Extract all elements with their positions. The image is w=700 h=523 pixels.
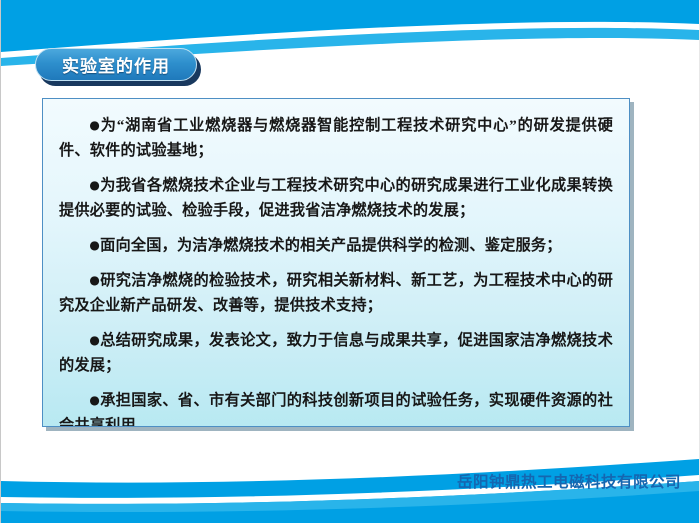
bullet-icon: ● [89, 273, 100, 287]
paragraph-text: 为我省各燃烧技术企业与工程技术研究中心的研究成果进行工业化成果转换提供必要的试验… [59, 177, 613, 219]
slide-canvas: 实验室的作用 ●为“湖南省工业燃烧器与燃烧器智能控制工程技术研究中心”的研发提供… [0, 0, 700, 523]
bullet-paragraph: ●面向全国，为洁净燃烧技术的相关产品提供科学的检测、鉴定服务； [59, 233, 613, 258]
paragraph-text: 总结研究成果，发表论文，致力于信息与成果共享，促进国家洁净燃烧技术的发展； [59, 332, 613, 374]
paragraph-text: 为“湖南省工业燃烧器与燃烧器智能控制工程技术研究中心”的研发提供硬件、软件的试验… [59, 117, 613, 159]
bullet-paragraph: ●研究洁净燃烧的检验技术，研究相关新材料、新工艺，为工程技术中心的研究及企业新产… [59, 268, 613, 318]
slide-title-banner: 实验室的作用 [35, 48, 201, 86]
bullet-icon: ● [89, 238, 100, 252]
footer-company-name: 岳阳钟鼎热工电磁科技有限公司 [457, 470, 681, 492]
bullet-paragraph: ●承担国家、省、市有关部门的科技创新项目的试验任务，实现硬件资源的社会共享利用。 [59, 388, 613, 427]
page-title: 实验室的作用 [62, 52, 170, 77]
paragraph-text: 研究洁净燃烧的检验技术，研究相关新材料、新工艺，为工程技术中心的研究及企业新产品… [59, 272, 613, 314]
bullet-paragraph: ●为我省各燃烧技术企业与工程技术研究中心的研究成果进行工业化成果转换提供必要的试… [59, 173, 613, 223]
title-banner-pill: 实验室的作用 [35, 48, 197, 81]
bullet-icon: ● [89, 178, 100, 192]
bullet-paragraph: ●总结研究成果，发表论文，致力于信息与成果共享，促进国家洁净燃烧技术的发展； [59, 328, 613, 378]
content-box: ●为“湖南省工业燃烧器与燃烧器智能控制工程技术研究中心”的研发提供硬件、软件的试… [42, 98, 630, 427]
bullet-icon: ● [89, 393, 100, 407]
bullet-icon: ● [89, 333, 100, 347]
bullet-icon: ● [89, 118, 100, 132]
paragraph-text: 面向全国，为洁净燃烧技术的相关产品提供科学的检测、鉴定服务； [100, 237, 562, 254]
paragraph-text: 承担国家、省、市有关部门的科技创新项目的试验任务，实现硬件资源的社会共享利用。 [59, 392, 613, 427]
bullet-paragraph: ●为“湖南省工业燃烧器与燃烧器智能控制工程技术研究中心”的研发提供硬件、软件的试… [59, 113, 613, 163]
